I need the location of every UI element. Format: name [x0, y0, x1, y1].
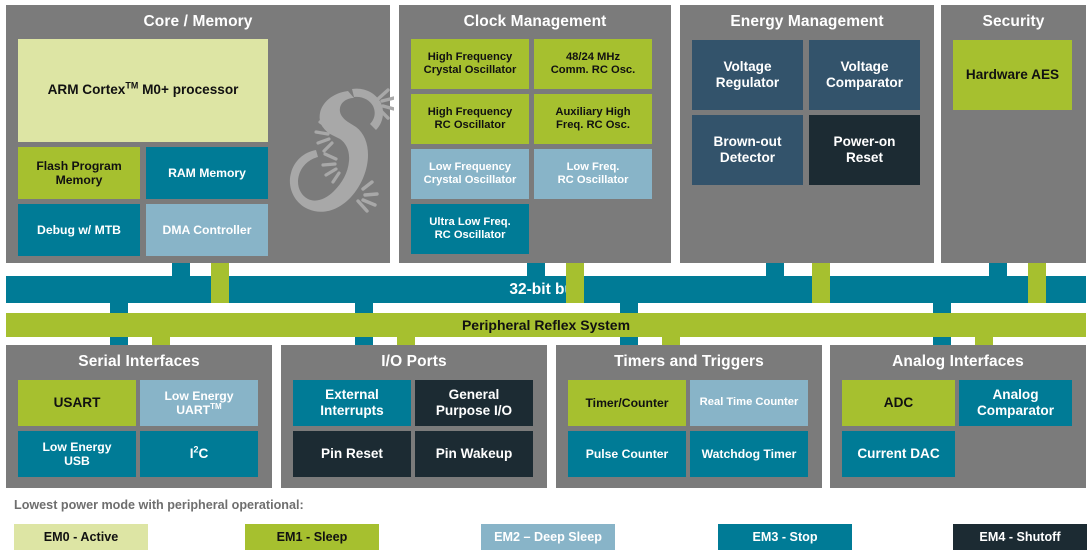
block-pin-reset[interactable]: Pin Reset: [293, 431, 411, 477]
block-hardware-aes[interactable]: Hardware AES: [953, 40, 1072, 110]
block-adc[interactable]: ADC: [842, 380, 955, 426]
bus-stub-top-teal-3: [766, 263, 784, 276]
block-external-interrupts[interactable]: External Interrupts: [293, 380, 411, 426]
block-voltage-comparator[interactable]: Voltage Comparator: [809, 40, 920, 110]
bus-stub-top-green-3: [812, 263, 830, 276]
block-analog-comparator[interactable]: Analog Comparator: [959, 380, 1072, 426]
block-comm-rc-oscillator[interactable]: 48/24 MHz Comm. RC Osc.: [534, 39, 652, 89]
bus-peripheral-reflex-system: Peripheral Reflex System: [6, 313, 1086, 337]
legend-caption: Lowest power mode with peripheral operat…: [14, 498, 304, 512]
bus-stub-mid-teal-3: [620, 303, 638, 313]
block-dma-controller[interactable]: DMA Controller: [146, 204, 268, 256]
panel-title-io-ports: I/O Ports: [281, 345, 547, 370]
block-high-frequency-rc-oscillator[interactable]: High Frequency RC Oscillator: [411, 94, 529, 144]
block-brown-out-detector[interactable]: Brown-out Detector: [692, 115, 803, 185]
block-label: I2C: [190, 446, 209, 462]
panel-core-memory: Core / Memory ARM CortexTM M0+ processor…: [6, 5, 390, 263]
bus-stub-mid-teal-2: [355, 303, 373, 313]
block-current-dac[interactable]: Current DAC: [842, 431, 955, 477]
legend-chip-em0: EM0 - Active: [14, 524, 148, 550]
block-auxiliary-high-freq-rc-oscillator[interactable]: Auxiliary High Freq. RC Osc.: [534, 94, 652, 144]
block-label: ARM CortexTM M0+ processor: [48, 82, 239, 98]
panel-clock-management: Clock Management High Frequency Crystal …: [399, 5, 671, 263]
panel-io-ports: I/O Ports External Interrupts General Pu…: [281, 345, 547, 488]
panel-title-serial-interfaces: Serial Interfaces: [6, 345, 272, 370]
bus-riser-green-3: [812, 276, 830, 303]
bus-stub-top-green-4: [1028, 263, 1046, 276]
panel-serial-interfaces: Serial Interfaces USART Low EnergyUARTTM…: [6, 345, 272, 488]
block-flash-program-memory[interactable]: Flash Program Memory: [18, 147, 140, 199]
block-ultra-low-freq-rc-oscillator[interactable]: Ultra Low Freq. RC Oscillator: [411, 204, 529, 254]
block-high-frequency-crystal-oscillator[interactable]: High Frequency Crystal Oscillator: [411, 39, 529, 89]
bus-riser-green-2: [566, 276, 584, 303]
legend-chip-em2: EM2 – Deep Sleep: [481, 524, 615, 550]
block-low-freq-rc-oscillator[interactable]: Low Freq. RC Oscillator: [534, 149, 652, 199]
block-voltage-regulator[interactable]: Voltage Regulator: [692, 40, 803, 110]
bus-stub-top-green-2: [566, 263, 584, 276]
panel-title-security: Security: [941, 5, 1086, 30]
bus-riser-green-1: [211, 276, 229, 303]
block-timer-counter[interactable]: Timer/Counter: [568, 380, 686, 426]
block-watchdog-timer[interactable]: Watchdog Timer: [690, 431, 808, 477]
block-ram-memory[interactable]: RAM Memory: [146, 147, 268, 199]
panel-analog-interfaces: Analog Interfaces ADC Analog Comparator …: [830, 345, 1086, 488]
panel-title-analog-interfaces: Analog Interfaces: [830, 345, 1086, 370]
panel-title-timers-and-triggers: Timers and Triggers: [556, 345, 822, 370]
block-low-energy-uart[interactable]: Low EnergyUARTTM: [140, 380, 258, 426]
block-general-purpose-io[interactable]: General Purpose I/O: [415, 380, 533, 426]
panel-title-energy-management: Energy Management: [680, 5, 934, 30]
bus-stub-mid-teal-1: [110, 303, 128, 313]
legend-chip-em1: EM1 - Sleep: [245, 524, 379, 550]
block-low-energy-usb[interactable]: Low Energy USB: [18, 431, 136, 477]
legend-chip-em4: EM4 - Shutoff: [953, 524, 1087, 550]
bus-stub-top-teal-2: [527, 263, 545, 276]
block-label: Low EnergyUARTTM: [164, 389, 233, 418]
block-i2c[interactable]: I2C: [140, 431, 258, 477]
block-real-time-counter[interactable]: Real Time Counter: [690, 380, 808, 426]
panel-title-clock-management: Clock Management: [399, 5, 671, 30]
bus-stub-top-teal-1: [172, 263, 190, 276]
bus-riser-green-4: [1028, 276, 1046, 303]
panel-title-core-memory: Core / Memory: [6, 5, 390, 30]
panel-security: Security Hardware AES: [941, 5, 1086, 263]
block-arm-cortex-processor[interactable]: ARM CortexTM M0+ processor: [18, 39, 268, 142]
legend-chip-em3: EM3 - Stop: [718, 524, 852, 550]
bus-32-bit: 32-bit bus: [6, 276, 1086, 303]
block-low-frequency-crystal-oscillator[interactable]: Low Frequency Crystal Oscillator: [411, 149, 529, 199]
gecko-icon: [286, 83, 394, 243]
bus-prs-label: Peripheral Reflex System: [462, 317, 630, 333]
block-usart[interactable]: USART: [18, 380, 136, 426]
bus-stub-mid-teal-4: [933, 303, 951, 313]
bus-stub-top-teal-4: [989, 263, 1007, 276]
panel-energy-management: Energy Management Voltage Regulator Volt…: [680, 5, 934, 263]
block-pin-wakeup[interactable]: Pin Wakeup: [415, 431, 533, 477]
block-debug-with-mtb[interactable]: Debug w/ MTB: [18, 204, 140, 256]
block-pulse-counter[interactable]: Pulse Counter: [568, 431, 686, 477]
bus-stub-top-green-1: [211, 263, 229, 276]
block-power-on-reset[interactable]: Power-on Reset: [809, 115, 920, 185]
panel-timers-and-triggers: Timers and Triggers Timer/Counter Real T…: [556, 345, 822, 488]
